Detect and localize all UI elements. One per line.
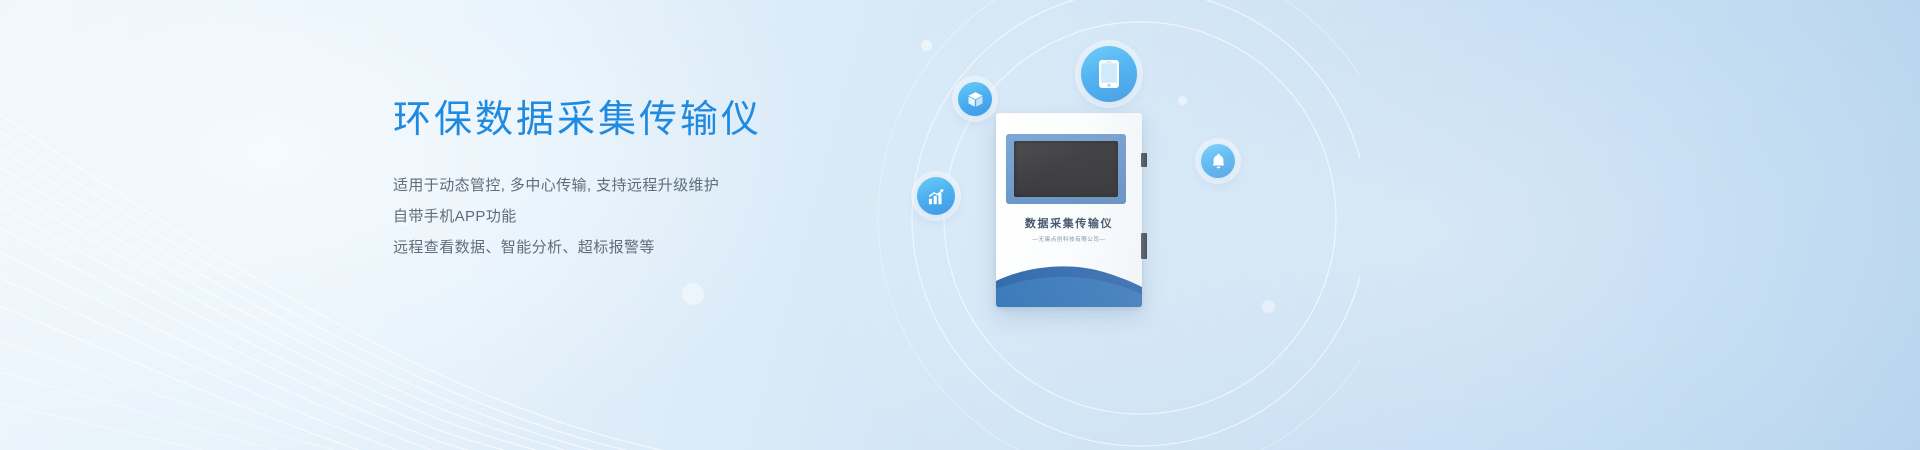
banner-subtitle-list: 适用于动态管控, 多中心传输, 支持远程升级维护 自带手机APP功能 远程查看数… [393,170,913,263]
bokeh-dot [1178,96,1187,105]
device-foot-wave [996,261,1142,307]
product-banner: 环保数据采集传输仪 适用于动态管控, 多中心传输, 支持远程升级维护 自带手机A… [0,0,1920,450]
bokeh-dot [1262,300,1275,313]
banner-copy: 环保数据采集传输仪 适用于动态管控, 多中心传输, 支持远程升级维护 自带手机A… [393,96,913,263]
bokeh-dot [682,283,704,305]
banner-subtitle-line: 远程查看数据、智能分析、超标报警等 [393,232,913,263]
device-screen [1014,141,1118,197]
bokeh-dot [921,40,932,51]
device-name-text: 数据采集传输仪 [996,217,1142,232]
device-company-text: —无锡点创科技有限公司— [996,236,1142,244]
product-device-image: 数据采集传输仪 —无锡点创科技有限公司— [996,113,1142,307]
package-box-icon [958,82,992,116]
banner-subtitle-line: 自带手机APP功能 [393,201,913,232]
device-label: 数据采集传输仪 —无锡点创科技有限公司— [996,217,1142,244]
smartphone-icon [1081,46,1137,102]
alarm-bell-icon [1201,144,1235,178]
bar-chart-growth-icon [917,177,955,215]
device-side-connector [1141,153,1147,167]
banner-headline: 环保数据采集传输仪 [393,96,913,144]
device-side-connector [1141,233,1147,259]
banner-subtitle-line: 适用于动态管控, 多中心传输, 支持远程升级维护 [393,170,913,201]
device-screen-bezel [1006,134,1126,204]
device-body: 数据采集传输仪 —无锡点创科技有限公司— [996,113,1142,307]
